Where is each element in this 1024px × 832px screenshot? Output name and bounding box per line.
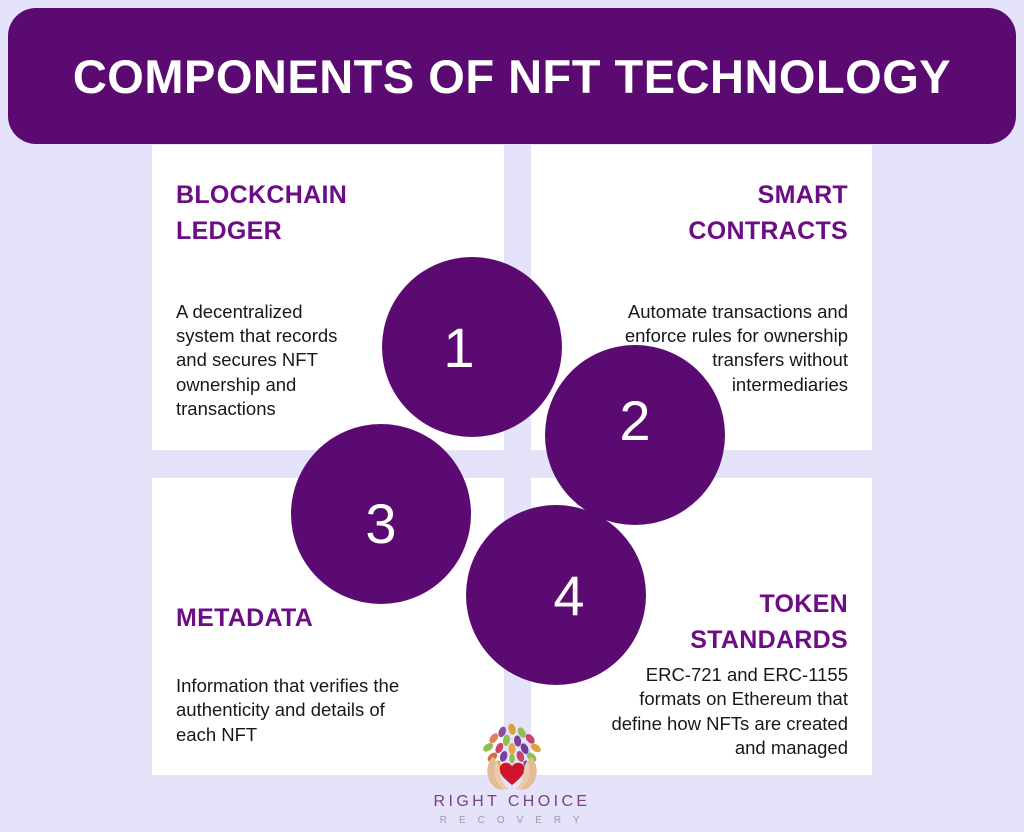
step-marker-4: 4 [466,505,646,685]
page-title: COMPONENTS OF NFT TECHNOLOGY [73,49,951,104]
circle-pointer-down-icon [545,345,725,525]
component-heading-1: BLOCKCHAIN LEDGER [176,177,480,250]
component-heading-4: TOKEN STANDARDS [690,586,848,659]
header-bar: COMPONENTS OF NFT TECHNOLOGY [8,8,1016,144]
component-heading-3: METADATA [176,600,313,636]
step-marker-3: 3 [291,424,471,604]
brand-logo: RIGHT CHOICE R E C O V E R Y [0,719,1024,826]
infographic-poster: COMPONENTS OF NFT TECHNOLOGY BLOCKCHAIN … [0,0,1024,832]
logo-name: RIGHT CHOICE [434,793,591,811]
hands-holding-heart-with-leaves-icon [470,719,554,791]
logo-tagline: R E C O V E R Y [440,815,584,826]
circle-pointer-up-icon [291,424,471,604]
circle-pointer-left-icon [466,505,646,685]
step-marker-1: 1 [382,257,562,437]
component-heading-2: SMART CONTRACTS [555,177,848,250]
circle-pointer-right-icon [382,257,562,437]
step-marker-2: 2 [545,345,725,525]
component-body-1: A decentralized system that records and … [176,300,376,422]
